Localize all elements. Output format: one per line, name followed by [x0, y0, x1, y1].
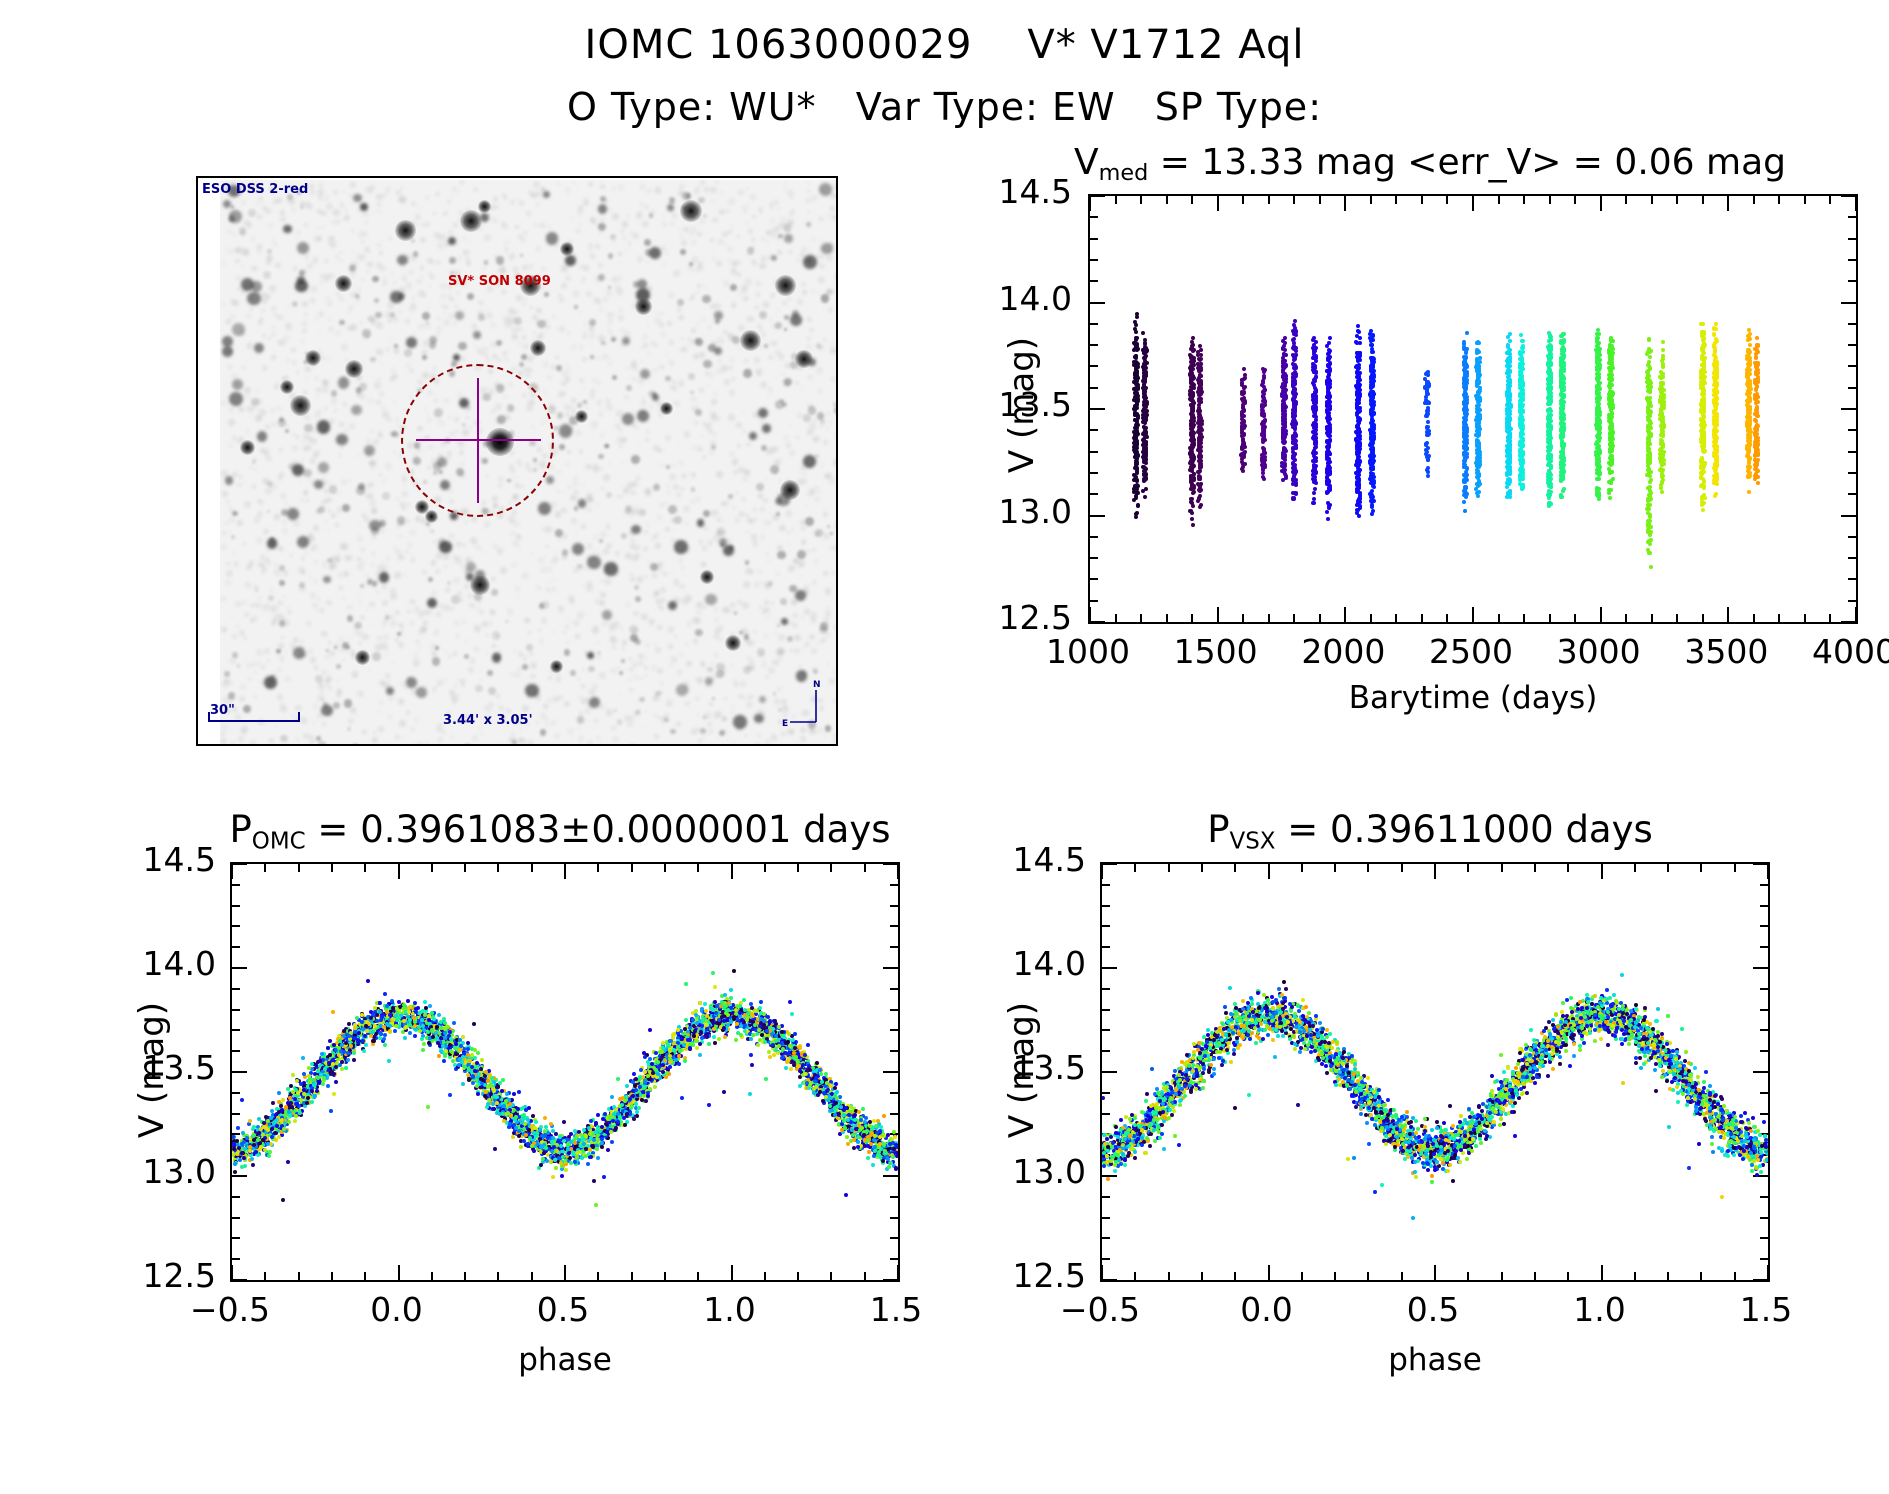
- data-point: [1192, 359, 1196, 363]
- data-point: [1661, 364, 1665, 368]
- data-point: [1199, 503, 1203, 507]
- data-point: [1521, 418, 1525, 422]
- survey-label: ESO DSS 2-red: [202, 182, 308, 197]
- data-point: [1283, 468, 1287, 472]
- data-point: [1660, 481, 1664, 485]
- data-point: [1548, 460, 1552, 464]
- data-point: [1754, 387, 1758, 391]
- axis-tick: [1472, 607, 1474, 622]
- axis-minor-tick: [1574, 614, 1576, 622]
- data-point: [1199, 348, 1203, 352]
- data-point: [1595, 493, 1599, 497]
- data-point: [1357, 374, 1361, 378]
- data-point: [1660, 407, 1664, 411]
- axis-minor-tick: [1191, 196, 1193, 204]
- axis-minor-tick: [1268, 196, 1270, 204]
- scale-bar-tick-right: [298, 712, 300, 722]
- data-point: [1134, 342, 1138, 346]
- axis-minor-tick: [1446, 614, 1448, 622]
- data-point: [1372, 459, 1376, 463]
- axis-tick: [1090, 195, 1105, 197]
- data-point: [1143, 415, 1147, 419]
- data-point: [1369, 431, 1373, 435]
- axis-minor-tick: [1242, 614, 1244, 622]
- data-point: [1747, 437, 1751, 441]
- data-point: [1595, 351, 1599, 355]
- axis-minor-tick: [1702, 614, 1704, 622]
- data-point: [1425, 390, 1429, 394]
- data-point: [1699, 484, 1703, 488]
- data-point: [1595, 332, 1599, 336]
- data-point: [1312, 464, 1316, 468]
- data-point: [1294, 400, 1298, 404]
- data-point: [1649, 470, 1653, 474]
- axis-minor-tick: [1848, 238, 1856, 240]
- data-point: [1462, 465, 1466, 469]
- data-point: [1142, 379, 1146, 383]
- data-point: [1648, 367, 1652, 371]
- data-point: [1312, 491, 1316, 495]
- data-point: [1357, 390, 1361, 394]
- data-point: [1143, 390, 1147, 394]
- data-point: [1191, 504, 1195, 508]
- data-point: [1661, 381, 1665, 385]
- axis-minor-tick: [1090, 323, 1098, 325]
- data-point: [1610, 447, 1614, 451]
- data-point: [1702, 392, 1706, 396]
- data-point: [1326, 364, 1330, 368]
- data-point: [1463, 392, 1467, 396]
- data-point: [1192, 472, 1196, 476]
- data-point: [1358, 444, 1362, 448]
- axis-tick: [1841, 195, 1856, 197]
- data-point: [1702, 501, 1706, 505]
- data-point: [1199, 449, 1203, 453]
- vmed-label: V: [1074, 142, 1099, 183]
- data-point: [1465, 452, 1469, 456]
- data-point: [1199, 400, 1203, 404]
- data-point: [1356, 461, 1360, 465]
- data-point: [1608, 496, 1612, 500]
- data-point: [1243, 385, 1247, 389]
- data-point: [1701, 508, 1705, 512]
- data-point: [1463, 509, 1467, 513]
- data-point: [1715, 381, 1719, 385]
- axis-minor-tick: [1395, 614, 1397, 622]
- axis-minor-tick: [1090, 493, 1098, 495]
- data-point: [1134, 461, 1138, 465]
- data-point: [1356, 508, 1360, 512]
- data-point: [1608, 456, 1612, 460]
- data-point: [1328, 471, 1332, 475]
- axis-tick: [1090, 515, 1105, 517]
- data-point: [1145, 409, 1149, 413]
- data-point: [1505, 481, 1509, 485]
- data-point: [1327, 372, 1331, 376]
- axis-minor-tick: [1848, 280, 1856, 282]
- axis-minor-tick: [1848, 216, 1856, 218]
- data-point: [1261, 381, 1265, 385]
- data-point: [1293, 319, 1297, 323]
- data-point: [1314, 418, 1318, 422]
- data-point: [1282, 373, 1286, 377]
- axis-minor-tick: [1848, 365, 1856, 367]
- data-point: [1748, 379, 1752, 383]
- data-point: [1648, 355, 1652, 359]
- data-point: [1756, 481, 1760, 485]
- axis-minor-tick: [1498, 196, 1500, 204]
- data-point: [1260, 403, 1264, 407]
- data-point: [1598, 363, 1602, 367]
- axis-tick: [1089, 196, 1091, 211]
- data-point: [1562, 442, 1566, 446]
- data-point: [1701, 407, 1705, 411]
- data-point: [1561, 407, 1565, 411]
- data-point: [1463, 459, 1467, 463]
- data-point: [1519, 386, 1523, 390]
- data-point: [1609, 463, 1613, 467]
- data-point: [1142, 460, 1146, 464]
- data-point: [1370, 343, 1374, 347]
- data-point: [1135, 365, 1139, 369]
- data-point: [1328, 407, 1332, 411]
- data-point: [1136, 503, 1140, 507]
- axis-tick: [1841, 302, 1856, 304]
- data-point: [1356, 423, 1360, 427]
- axis-tick: [1855, 607, 1857, 622]
- data-point: [1714, 492, 1718, 496]
- data-point: [1326, 490, 1330, 494]
- data-point: [1506, 343, 1510, 347]
- data-point: [1475, 404, 1479, 408]
- data-point: [1646, 426, 1650, 430]
- vmed-unit: mag: [1316, 142, 1396, 183]
- data-point: [1197, 497, 1201, 501]
- data-point: [1240, 454, 1244, 458]
- data-point: [1462, 400, 1466, 404]
- data-point: [1261, 399, 1265, 403]
- data-point: [1190, 447, 1194, 451]
- data-point: [1314, 346, 1318, 350]
- data-point: [1547, 391, 1551, 395]
- data-point: [1292, 474, 1296, 478]
- data-point: [1191, 367, 1195, 371]
- axis-minor-tick: [1625, 614, 1627, 622]
- data-point: [1596, 328, 1600, 332]
- data-point: [1328, 336, 1332, 340]
- data-point: [1283, 348, 1287, 352]
- data-point: [1701, 445, 1705, 449]
- data-point: [1747, 490, 1751, 494]
- axis-minor-tick: [1421, 614, 1423, 622]
- axis-minor-tick: [1778, 614, 1780, 622]
- data-point: [1647, 409, 1651, 413]
- axis-minor-tick: [1090, 600, 1098, 602]
- data-point: [1560, 334, 1564, 338]
- data-point: [1700, 472, 1704, 476]
- data-point: [1748, 363, 1752, 367]
- data-point: [1746, 414, 1750, 418]
- axis-minor-tick: [1498, 614, 1500, 622]
- axis-minor-tick: [1090, 238, 1098, 240]
- axis-minor-tick: [1549, 614, 1551, 622]
- data-point: [1475, 415, 1479, 419]
- data-point: [1313, 478, 1317, 482]
- axis-minor-tick: [1242, 196, 1244, 204]
- data-point: [1370, 350, 1374, 354]
- data-point: [1189, 347, 1193, 351]
- data-point: [1190, 497, 1194, 501]
- data-point: [1549, 363, 1553, 367]
- data-point: [1192, 484, 1196, 488]
- data-point: [1325, 510, 1329, 514]
- axis-minor-tick: [1676, 614, 1678, 622]
- data-point: [1561, 450, 1565, 454]
- axis-tick: [1089, 607, 1091, 622]
- axis-minor-tick: [1829, 614, 1831, 622]
- axis-tick: [1344, 196, 1346, 211]
- data-point: [1562, 487, 1566, 491]
- data-point: [1662, 450, 1666, 454]
- data-point: [1358, 493, 1362, 497]
- data-point: [1426, 458, 1430, 462]
- data-point: [1520, 433, 1524, 437]
- data-point: [1312, 356, 1316, 360]
- data-point: [1191, 523, 1195, 527]
- axis-minor-tick: [1090, 472, 1098, 474]
- axis-tick: [1841, 515, 1856, 517]
- data-point: [1426, 373, 1430, 377]
- data-point: [1311, 338, 1315, 342]
- axis-minor-tick: [1848, 451, 1856, 453]
- axis-minor-tick: [1848, 536, 1856, 538]
- data-point: [1715, 339, 1719, 343]
- axis-minor-tick: [1140, 614, 1142, 622]
- data-point: [1358, 354, 1362, 358]
- data-point: [1747, 352, 1751, 356]
- data-point: [1661, 348, 1665, 352]
- data-point: [1465, 447, 1469, 451]
- data-point: [1135, 379, 1139, 383]
- data-point: [1240, 421, 1244, 425]
- data-point: [1520, 378, 1524, 382]
- data-point: [1199, 482, 1203, 486]
- data-point: [1478, 463, 1482, 467]
- data-point: [1702, 330, 1706, 334]
- axis-minor-tick: [1090, 536, 1098, 538]
- axis-minor-tick: [1166, 614, 1168, 622]
- data-point: [1559, 412, 1563, 416]
- data-point: [1282, 401, 1286, 405]
- data-point: [1659, 486, 1663, 490]
- data-point: [1282, 441, 1286, 445]
- data-point: [1356, 471, 1360, 475]
- data-point: [1649, 349, 1653, 353]
- data-point: [1465, 331, 1469, 335]
- data-point: [1328, 379, 1332, 383]
- data-point: [1463, 370, 1467, 374]
- data-point: [1370, 402, 1374, 406]
- page-title-line2: O Type: WU* Var Type: EW SP Type:: [0, 85, 1889, 129]
- data-point: [1199, 353, 1203, 357]
- axis-minor-tick: [1848, 387, 1856, 389]
- data-point: [1746, 334, 1750, 338]
- data-point: [1371, 449, 1375, 453]
- data-point: [1426, 420, 1430, 424]
- data-point: [1197, 429, 1201, 433]
- data-point: [1312, 437, 1316, 441]
- axis-minor-tick: [1804, 196, 1806, 204]
- data-point: [1546, 386, 1550, 390]
- axis-minor-tick: [1090, 259, 1098, 261]
- data-point: [1356, 454, 1360, 458]
- axis-minor-tick: [1848, 429, 1856, 431]
- axis-minor-tick: [1446, 196, 1448, 204]
- axis-minor-tick: [1523, 196, 1525, 204]
- axis-minor-tick: [1090, 451, 1098, 453]
- data-point: [1598, 451, 1602, 455]
- axis-minor-tick: [1848, 493, 1856, 495]
- data-point: [1595, 425, 1599, 429]
- data-point: [1547, 496, 1551, 500]
- data-point: [1293, 427, 1297, 431]
- data-point: [1326, 392, 1330, 396]
- page-title-line1: IOMC 1063000029 V* V1712 Aql: [0, 22, 1889, 68]
- axis-minor-tick: [1848, 323, 1856, 325]
- data-point: [1292, 419, 1296, 423]
- data-point: [1748, 443, 1752, 447]
- data-point: [1661, 340, 1665, 344]
- data-point: [1313, 413, 1317, 417]
- data-point: [1369, 499, 1373, 503]
- data-point: [1597, 459, 1601, 463]
- data-point: [1660, 469, 1664, 473]
- data-point: [1559, 362, 1563, 366]
- data-point: [1712, 422, 1716, 426]
- data-point: [1597, 463, 1601, 467]
- data-point: [1313, 446, 1317, 450]
- data-point: [1425, 441, 1429, 445]
- data-point: [1294, 446, 1298, 450]
- data-point: [1372, 427, 1376, 431]
- data-point: [1647, 338, 1651, 342]
- data-point: [1263, 451, 1267, 455]
- data-point: [1546, 454, 1550, 458]
- data-point: [1199, 392, 1203, 396]
- data-point: [1595, 421, 1599, 425]
- data-point: [1508, 489, 1512, 493]
- data-point: [1314, 375, 1318, 379]
- data-point: [1595, 372, 1599, 376]
- axis-minor-tick: [1753, 196, 1755, 204]
- data-point: [1133, 441, 1137, 445]
- data-point: [1294, 434, 1298, 438]
- data-point: [1145, 348, 1149, 352]
- axis-minor-tick: [1421, 196, 1423, 204]
- data-point: [1661, 478, 1665, 482]
- axis-minor-tick: [1702, 196, 1704, 204]
- data-point: [1281, 454, 1285, 458]
- data-point: [1547, 504, 1551, 508]
- axis-minor-tick: [1848, 259, 1856, 261]
- errv-unit: mag: [1706, 142, 1786, 183]
- data-point: [1263, 388, 1267, 392]
- data-point: [1356, 324, 1360, 328]
- data-point: [1313, 471, 1317, 475]
- data-point: [1465, 492, 1469, 496]
- data-point: [1191, 409, 1195, 413]
- barytime-plot-title: Vmed = 13.33 mag <err_V> = 0.06 mag: [1000, 142, 1860, 186]
- data-point: [1547, 344, 1551, 348]
- axis-minor-tick: [1523, 614, 1525, 622]
- data-point: [1475, 491, 1479, 495]
- data-point: [1748, 343, 1752, 347]
- data-point: [1549, 338, 1553, 342]
- data-point: [1714, 472, 1718, 476]
- barytime-lightcurve-plot: Vmed = 13.33 mag <err_V> = 0.06 mag V (m…: [1000, 170, 1860, 690]
- data-point: [1475, 351, 1479, 355]
- axis-tick: [1600, 196, 1602, 211]
- data-point: [1701, 477, 1705, 481]
- vmed-value: 13.33: [1201, 142, 1304, 183]
- data-point: [1190, 381, 1194, 385]
- data-point: [1134, 496, 1138, 500]
- axis-tick: [1217, 196, 1219, 211]
- data-point: [1371, 419, 1375, 423]
- data-point: [1355, 364, 1359, 368]
- data-point: [1426, 474, 1430, 478]
- data-point: [1198, 489, 1202, 493]
- data-point: [1712, 481, 1716, 485]
- field-of-view-label: 3.44' x 3.05': [443, 713, 533, 728]
- errv-label: <err_V>: [1407, 142, 1561, 183]
- data-point: [1701, 350, 1705, 354]
- data-point: [1294, 353, 1298, 357]
- axis-minor-tick: [1115, 196, 1117, 204]
- data-point: [1284, 474, 1288, 478]
- data-point: [1463, 424, 1467, 428]
- data-point: [1191, 385, 1195, 389]
- data-point: [1462, 480, 1466, 484]
- data-point: [1357, 514, 1361, 518]
- data-point: [1611, 406, 1615, 410]
- data-point: [1559, 421, 1563, 425]
- data-point: [1327, 341, 1331, 345]
- axis-minor-tick: [1651, 196, 1653, 204]
- axis-minor-tick: [1166, 196, 1168, 204]
- axis-minor-tick: [1090, 387, 1098, 389]
- axis-minor-tick: [1848, 557, 1856, 559]
- data-point: [1425, 425, 1429, 429]
- data-point: [1241, 469, 1245, 473]
- data-point: [1191, 374, 1195, 378]
- data-point: [1610, 373, 1614, 377]
- data-point: [1262, 424, 1266, 428]
- data-point: [1521, 424, 1525, 428]
- data-point: [1356, 359, 1360, 363]
- data-point: [1597, 497, 1601, 501]
- axis-minor-tick: [1319, 196, 1321, 204]
- data-point: [1263, 418, 1267, 422]
- data-point: [1314, 394, 1318, 398]
- data-point: [1192, 438, 1196, 442]
- data-point: [1648, 474, 1652, 478]
- data-point: [1660, 431, 1664, 435]
- data-point: [1355, 334, 1359, 338]
- data-point: [1190, 517, 1194, 521]
- data-point: [1326, 352, 1330, 356]
- sky-image-panel: ESO DSS 2-red SV* SON 8099 30" 3.44' x 3…: [196, 176, 838, 746]
